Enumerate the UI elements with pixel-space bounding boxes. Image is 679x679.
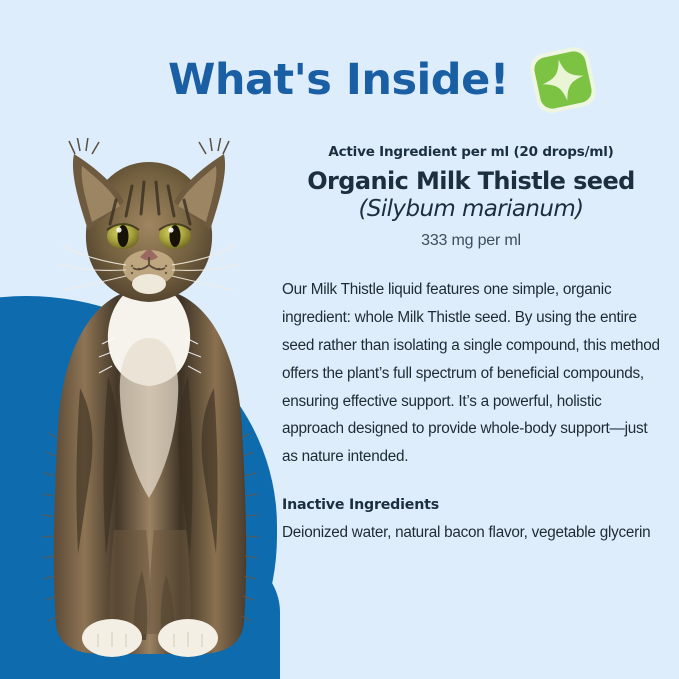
inactive-ingredients-heading: Inactive Ingredients — [282, 497, 660, 513]
active-ingredient-dose: 333 mg per ml — [282, 232, 660, 250]
active-ingredient-name: Organic Milk Thistle seed — [282, 168, 660, 196]
header: What's Inside! — [168, 44, 599, 116]
supplement-facts-panel: Active Ingredient per ml (20 drops/ml) O… — [282, 144, 660, 547]
inactive-ingredients-list: Deionized water, natural bacon flavor, v… — [282, 519, 660, 547]
active-ingredient-latin: (Silybum marianum) — [282, 196, 660, 224]
product-description: Our Milk Thistle liquid features one sim… — [282, 276, 660, 471]
page-title: What's Inside! — [168, 59, 509, 102]
sparkle-star-icon — [520, 37, 605, 122]
product-info-card: What's Inside! Active Ingredient per ml … — [0, 0, 679, 679]
cat-photo — [18, 138, 280, 666]
active-ingredient-label: Active Ingredient per ml (20 drops/ml) — [282, 144, 660, 160]
